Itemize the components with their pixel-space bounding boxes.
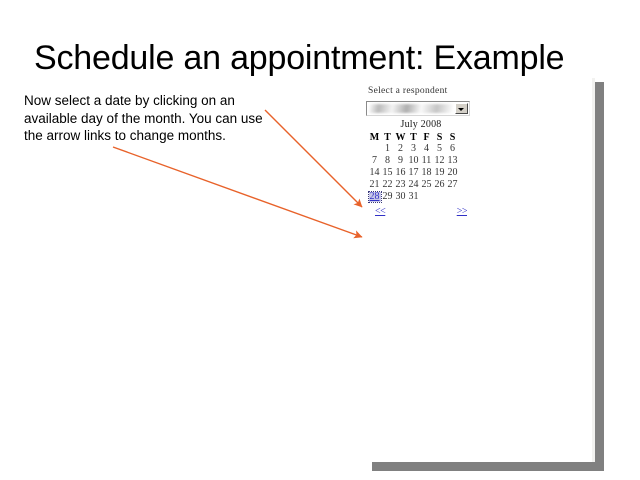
calendar-week-row: 1 2 3 4 5 6 (368, 143, 459, 155)
calendar-day-cell[interactable]: 3 (407, 143, 420, 155)
slide-canvas: Schedule an appointment: Example Now sel… (0, 0, 640, 480)
calendar-day-cell[interactable]: 31 (407, 191, 420, 203)
next-month-link[interactable]: >> (457, 206, 467, 217)
calendar-selected-day-link[interactable]: 28 (369, 192, 381, 202)
calendar-day-cell[interactable]: 21 (368, 179, 381, 191)
calendar-navigation: << >> (368, 206, 472, 219)
calendar-weekday-row: M T W T F S S (368, 131, 459, 143)
instruction-text: Now select a date by clicking on an avai… (24, 92, 272, 145)
calendar-week-row: 14 15 16 17 18 19 20 (368, 167, 459, 179)
calendar-day-cell[interactable]: 4 (420, 143, 433, 155)
calendar-week-row: 21 22 23 24 25 26 27 (368, 179, 459, 191)
page-title: Schedule an appointment: Example (34, 38, 614, 78)
calendar-month-title: July 2008 (372, 119, 470, 130)
calendar-day-cell[interactable]: 19 (433, 167, 446, 179)
calendar-day-cell[interactable]: 7 (368, 155, 381, 167)
calendar-weekday-header: F (420, 131, 433, 143)
calendar-widget: July 2008 M T W T F S S (366, 119, 486, 219)
calendar-day-cell[interactable]: 14 (368, 167, 381, 179)
slide-shadow-right (595, 82, 604, 470)
calendar-day-cell (368, 143, 381, 155)
calendar-day-cell[interactable]: 18 (420, 167, 433, 179)
calendar-day-cell[interactable]: 22 (381, 179, 394, 191)
calendar-day-cell[interactable]: 27 (446, 179, 459, 191)
calendar-day-cell[interactable]: 24 (407, 179, 420, 191)
calendar-day-cell (433, 191, 446, 203)
calendar-day-cell[interactable]: 10 (407, 155, 420, 167)
calendar-day-cell (446, 191, 459, 203)
calendar-weekday-header: S (433, 131, 446, 143)
calendar-weekday-header: T (381, 131, 394, 143)
calendar-weekday-header: W (394, 131, 407, 143)
calendar-week-row: 7 8 9 10 11 12 13 (368, 155, 459, 167)
respondent-label: Select a respondent (368, 86, 486, 96)
calendar-day-cell[interactable]: 6 (446, 143, 459, 155)
calendar-day-cell[interactable]: 30 (394, 191, 407, 203)
arrow-to-selected-day (265, 110, 362, 207)
arrow-to-month-nav (113, 147, 362, 237)
calendar-day-cell[interactable]: 23 (394, 179, 407, 191)
respondent-selected-value (369, 104, 453, 113)
calendar-day-cell[interactable]: 15 (381, 167, 394, 179)
calendar-weekday-header: T (407, 131, 420, 143)
calendar-day-cell[interactable]: 8 (381, 155, 394, 167)
calendar-day-cell[interactable]: 11 (420, 155, 433, 167)
calendar-week-row: 28 29 30 31 (368, 191, 459, 203)
calendar-weekday-header: S (446, 131, 459, 143)
calendar-day-cell[interactable]: 5 (433, 143, 446, 155)
slide-shadow-bottom (372, 462, 604, 471)
calendar-day-cell[interactable]: 2 (394, 143, 407, 155)
calendar-weekday-header: M (368, 131, 381, 143)
calendar-day-cell[interactable]: 20 (446, 167, 459, 179)
calendar-day-cell[interactable]: 9 (394, 155, 407, 167)
calendar-day-cell[interactable]: 12 (433, 155, 446, 167)
calendar-day-cell[interactable]: 17 (407, 167, 420, 179)
calendar-day-cell[interactable]: 16 (394, 167, 407, 179)
calendar-day-cell[interactable]: 1 (381, 143, 394, 155)
calendar-day-cell[interactable]: 25 (420, 179, 433, 191)
calendar-day-cell-selected[interactable]: 28 (368, 191, 381, 203)
calendar-day-cell[interactable]: 13 (446, 155, 459, 167)
prev-month-link[interactable]: << (375, 206, 385, 217)
calendar-day-cell[interactable]: 26 (433, 179, 446, 191)
respondent-select[interactable] (366, 101, 470, 116)
calendar-day-cell[interactable]: 29 (381, 191, 394, 203)
appointment-form-panel: Select a respondent July 2008 M T W T F … (366, 86, 486, 219)
chevron-down-icon[interactable] (455, 103, 468, 114)
calendar-grid: M T W T F S S 1 2 3 4 (368, 131, 459, 203)
calendar-day-cell (420, 191, 433, 203)
